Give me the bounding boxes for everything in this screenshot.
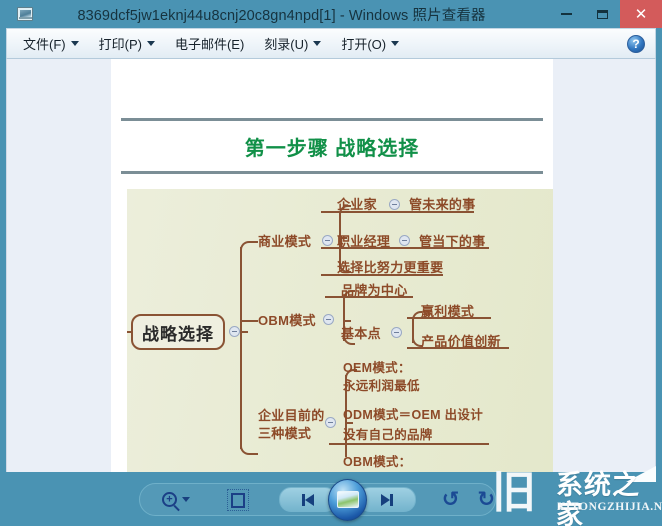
- branch3-lead: [252, 453, 258, 455]
- rotate-clockwise-icon[interactable]: ↻: [477, 489, 495, 510]
- b3c2-underline: [329, 443, 489, 445]
- b2c2x1-underline: [407, 317, 491, 319]
- minimize-button[interactable]: [548, 0, 584, 28]
- previous-icon: [305, 494, 314, 506]
- chevron-down-icon: [71, 41, 79, 46]
- chevron-down-icon: [391, 41, 399, 46]
- mindmap-node-oem-line1: OEM模式：: [343, 357, 411, 376]
- title-bar: 8369dcf5jw1eknj44u8cnj20c8gn4npd[1] - Wi…: [0, 0, 662, 28]
- b1c1-underline: [321, 211, 474, 213]
- collapse-toggle-obm[interactable]: [323, 314, 334, 325]
- chevron-down-icon: [182, 497, 190, 502]
- mindmap-node-three-models-line1: 企业目前的: [258, 405, 325, 424]
- collapse-toggle-business-model[interactable]: [322, 235, 333, 246]
- mindmap-node-basic-point: 基本点: [341, 323, 381, 342]
- bottom-toolbar: + ↺ ↻: [139, 483, 496, 516]
- play-slideshow-button[interactable]: [328, 479, 367, 521]
- close-button[interactable]: ✕: [620, 0, 662, 28]
- collapse-toggle-entrepreneur[interactable]: [389, 199, 400, 210]
- b2c2x2-underline: [407, 347, 509, 349]
- b1c3-underline: [321, 274, 443, 276]
- photo-viewer-icon: [17, 7, 33, 21]
- maximize-icon: [597, 10, 608, 19]
- menu-bar: 文件(F) 打印(P) 电子邮件(E) 刻录(U) 打开(O) ?: [6, 28, 656, 59]
- displayed-image: 第一步骤 战略选择 战略选择 商业模式: [111, 59, 553, 472]
- bottom-toolbar-area: + ↺ ↻: [0, 472, 662, 526]
- mindmap-root-node: 战略选择: [131, 314, 225, 350]
- collapse-toggle-professional-manager[interactable]: [399, 235, 410, 246]
- mindmap-node-obm-model: OBM模式: [258, 310, 316, 329]
- chevron-down-icon: [313, 41, 321, 46]
- zoom-plus-label: +: [166, 494, 172, 505]
- photo-viewer-window: 8369dcf5jw1eknj44u8cnj20c8gn4npd[1] - Wi…: [0, 0, 662, 526]
- window-title: 8369dcf5jw1eknj44u8cnj20c8gn4npd[1] - Wi…: [15, 4, 548, 25]
- close-icon: ✕: [635, 7, 648, 22]
- title-rule-bottom: [121, 171, 543, 174]
- mindmap-node-odm-line1: ODM模式＝OEM 出设计: [343, 404, 483, 423]
- menu-item-burn-label: 刻录(U): [264, 34, 308, 53]
- zoom-button[interactable]: +: [162, 492, 190, 507]
- b2-mid-stub: [343, 320, 351, 322]
- magnifier-plus-icon: +: [162, 492, 177, 507]
- help-icon[interactable]: ?: [627, 35, 645, 53]
- menu-item-print-label: 打印(P): [99, 34, 142, 53]
- mindmap-node-oem-line2: 永远利润最低: [343, 375, 420, 394]
- menu-item-open[interactable]: 打开(O): [333, 31, 407, 56]
- branch2-lead: [240, 320, 258, 322]
- maximize-button[interactable]: [584, 0, 620, 28]
- mindmap-node-business-model: 商业模式: [258, 231, 311, 250]
- menu-item-burn[interactable]: 刻录(U): [256, 31, 329, 56]
- spine-corner-top: [240, 241, 254, 255]
- page-title: 第一步骤 战略选择: [121, 121, 543, 171]
- chevron-down-icon: [147, 41, 155, 46]
- menu-item-email-label: 电子邮件(E): [175, 34, 244, 53]
- spine-stub: [240, 331, 248, 333]
- menu-item-file-label: 文件(F): [23, 34, 66, 53]
- minimize-icon: [561, 13, 572, 15]
- mindmap-node-odm-line2: 没有自己的品牌: [343, 424, 433, 443]
- next-icon-bar: [390, 494, 393, 506]
- menu-item-email[interactable]: 电子邮件(E): [167, 31, 252, 56]
- b1c2-underline: [321, 247, 489, 249]
- document-title-block: 第一步骤 战略选择: [121, 118, 543, 174]
- next-icon: [381, 494, 390, 506]
- image-viewport[interactable]: 第一步骤 战略选择 战略选择 商业模式: [6, 59, 656, 472]
- menu-item-print[interactable]: 打印(P): [91, 31, 163, 56]
- b2c1-underline: [325, 296, 413, 298]
- rotate-counterclockwise-icon[interactable]: ↺: [442, 489, 460, 510]
- spine-vertical: [240, 247, 242, 449]
- mindmap-node-obm-bottom: OBM模式：: [343, 451, 411, 470]
- menu-item-file[interactable]: 文件(F): [15, 31, 87, 56]
- collapse-toggle-root[interactable]: [229, 326, 240, 337]
- collapse-toggle-three-models[interactable]: [325, 417, 336, 428]
- slideshow-icon: [337, 491, 359, 508]
- mindmap-diagram: 战略选择 商业模式 企业家 管未来的事: [127, 189, 553, 472]
- mindmap-node-three-models-line2: 三种模式: [258, 423, 311, 442]
- fit-window-icon: [231, 493, 245, 506]
- collapse-toggle-basic-point[interactable]: [391, 327, 402, 338]
- fit-to-window-button[interactable]: [227, 489, 249, 511]
- menu-item-open-label: 打开(O): [341, 34, 386, 53]
